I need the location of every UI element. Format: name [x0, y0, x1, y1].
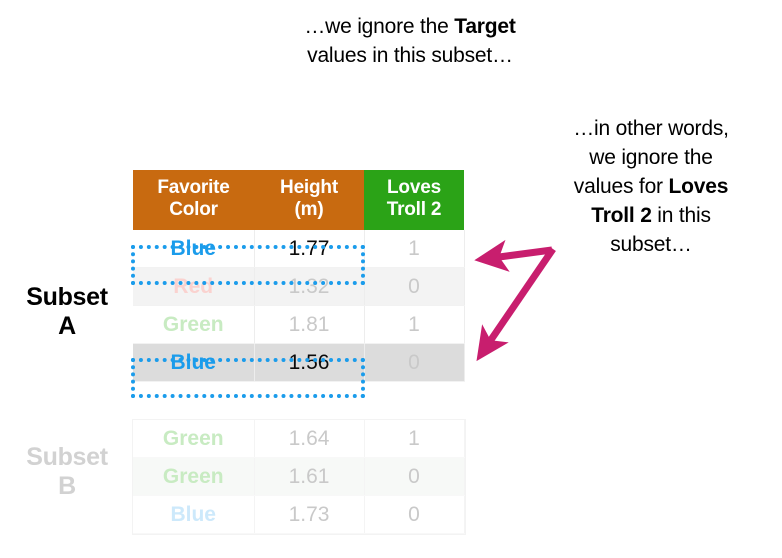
subset-a-letter: A	[58, 312, 76, 340]
table-row: Blue 1.56 0	[133, 344, 464, 382]
header-height-line2: (m)	[295, 199, 324, 220]
cell-height: 1.32	[254, 268, 364, 306]
callout-right-line5: subset…	[610, 233, 691, 256]
header-favorite-color: Favorite Color	[133, 170, 254, 230]
table-row: Green 1.61 0	[133, 458, 464, 496]
header-favorite-color-line2: Color	[169, 199, 218, 220]
cell-height: 1.64	[254, 420, 364, 458]
callout-top-line2: values in this subset…	[307, 44, 513, 67]
cell-target: 0	[364, 344, 464, 382]
callout-right-line4-bold: Troll 2	[591, 204, 651, 227]
cell-target: 1	[364, 230, 464, 268]
subset-b-letter: B	[58, 472, 76, 500]
table-row: Red 1.32 0	[133, 268, 464, 306]
cell-target: 0	[364, 268, 464, 306]
header-loves-troll-2-line1: Loves	[387, 177, 441, 198]
callout-right-line3-pre: values for	[574, 175, 669, 198]
table-header-row: Favorite Color Height (m) Loves Troll 2	[133, 170, 464, 230]
cell-height: 1.81	[254, 306, 364, 344]
subset-a-body: Blue 1.77 1 Red 1.32 0 Green 1.81 1 Blue…	[133, 230, 464, 382]
header-loves-troll-2-line2: Troll 2	[387, 199, 442, 220]
cell-target: 0	[364, 458, 464, 496]
cell-color: Blue	[133, 496, 254, 534]
callout-right: …in other words, we ignore the values fo…	[520, 114, 782, 259]
diagram-canvas: …we ignore the Target values in this sub…	[0, 0, 782, 558]
subset-b-table: Green 1.64 1 Green 1.61 0 Blue 1.73 0	[133, 420, 465, 534]
cell-color: Green	[133, 458, 254, 496]
callout-right-line2: we ignore the	[589, 146, 712, 169]
subset-b-label: Subset B	[2, 443, 132, 501]
table-row: Green 1.81 1	[133, 306, 464, 344]
cell-height: 1.77	[254, 230, 364, 268]
subset-b-body: Green 1.64 1 Green 1.61 0 Blue 1.73 0	[133, 420, 464, 534]
cell-color: Blue	[133, 344, 254, 382]
table-row: Green 1.64 1	[133, 420, 464, 458]
subset-a-label: Subset A	[2, 283, 132, 341]
subset-b-name: Subset	[26, 443, 108, 471]
cell-height: 1.56	[254, 344, 364, 382]
cell-color: Red	[133, 268, 254, 306]
subset-a-name: Subset	[26, 283, 108, 311]
table-row: Blue 1.73 0	[133, 496, 464, 534]
cell-color: Green	[133, 420, 254, 458]
table-row: Blue 1.77 1	[133, 230, 464, 268]
header-loves-troll-2: Loves Troll 2	[364, 170, 464, 230]
cell-color: Green	[133, 306, 254, 344]
cell-color: Blue	[133, 230, 254, 268]
cell-height: 1.61	[254, 458, 364, 496]
callout-right-line1: …in other words,	[573, 117, 729, 140]
callout-top: …we ignore the Target values in this sub…	[210, 12, 610, 70]
header-favorite-color-line1: Favorite	[157, 177, 229, 198]
subset-a-table: Favorite Color Height (m) Loves Troll 2 …	[133, 170, 465, 382]
header-height-line1: Height	[280, 177, 338, 198]
cell-target: 1	[364, 306, 464, 344]
callout-top-line1-pre: …we ignore the	[304, 15, 454, 38]
callout-top-line1-bold: Target	[454, 15, 515, 38]
header-height: Height (m)	[254, 170, 364, 230]
cell-height: 1.73	[254, 496, 364, 534]
cell-target: 1	[364, 420, 464, 458]
arrow-to-row-4	[482, 249, 553, 353]
cell-target: 0	[364, 496, 464, 534]
callout-right-line3-bold: Loves	[668, 175, 728, 198]
callout-right-line4-post: in this	[652, 204, 711, 227]
